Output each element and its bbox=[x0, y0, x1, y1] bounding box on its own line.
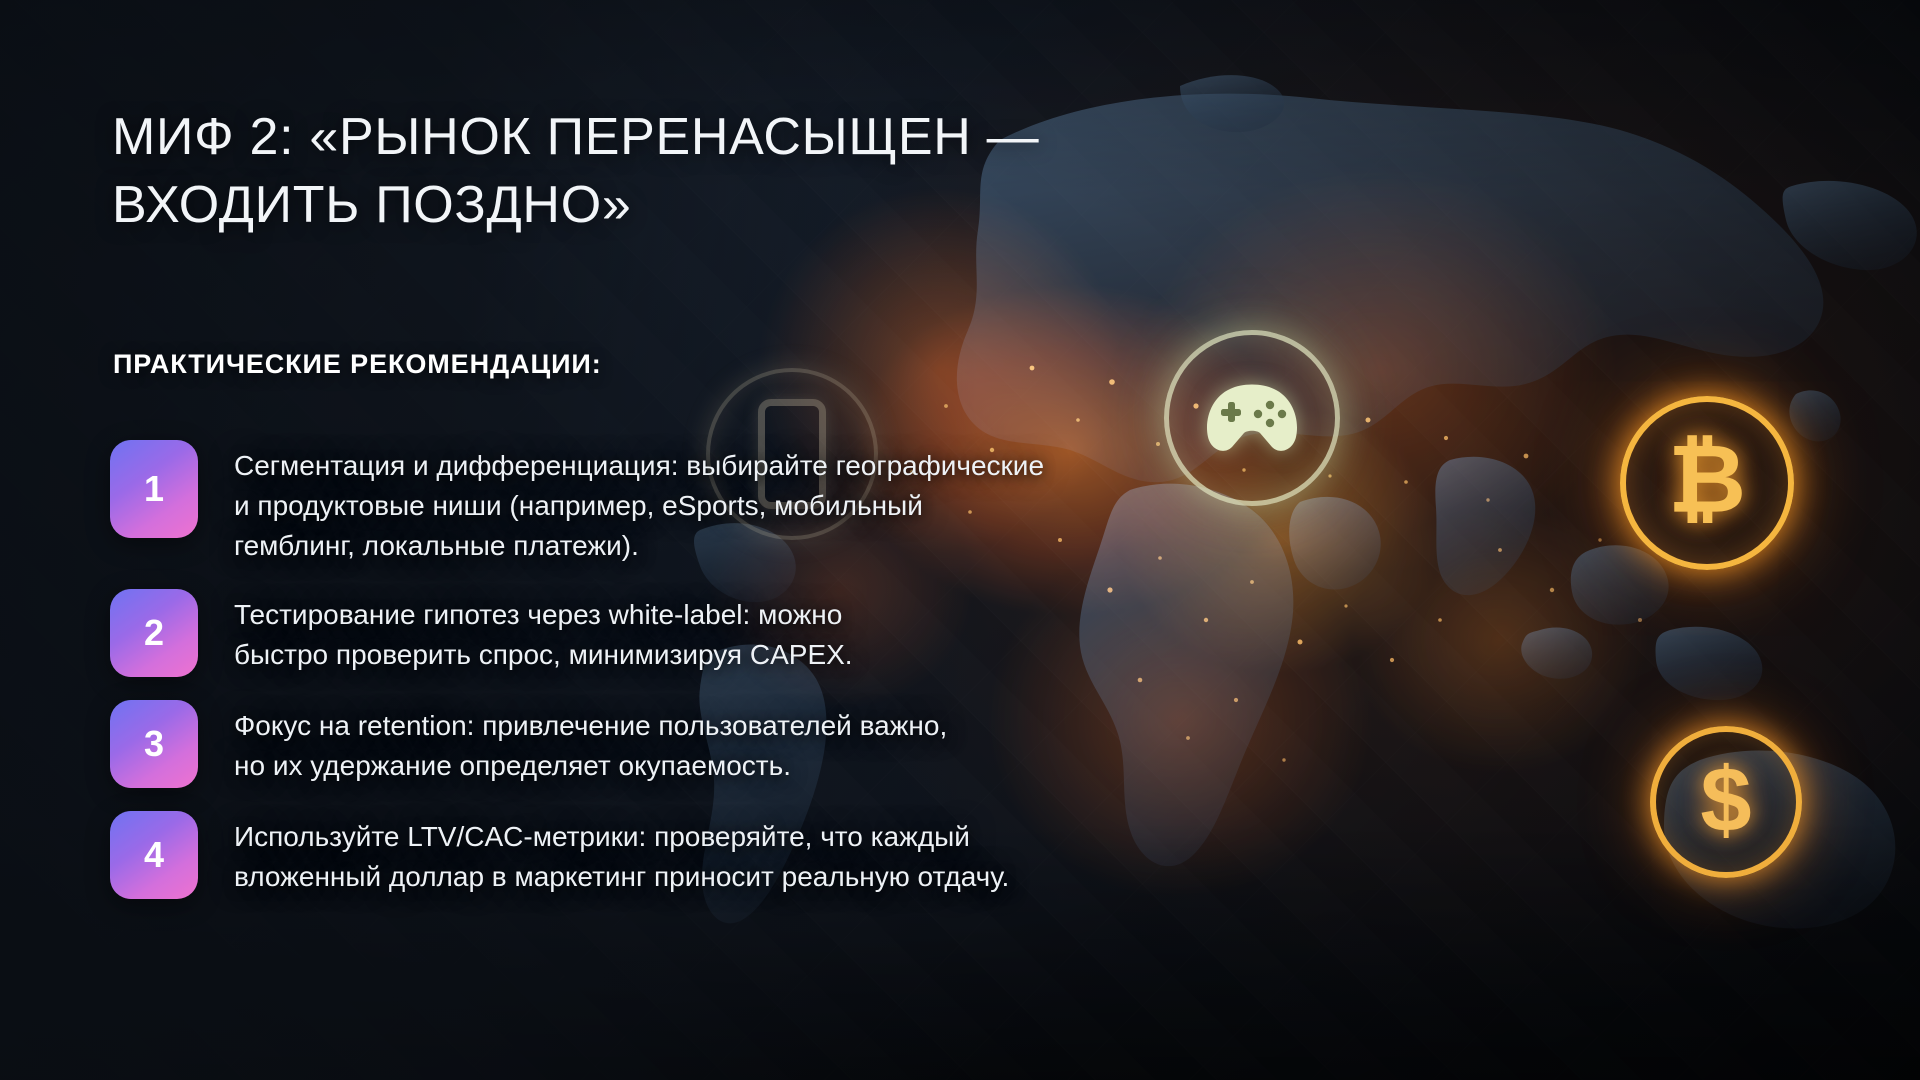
recommendations-heading: ПРАКТИЧЕСКИЕ РЕКОМЕНДАЦИИ: bbox=[113, 349, 602, 380]
recommendation-text: Фокус на retention: привлечение пользова… bbox=[234, 700, 947, 786]
recommendation-item: 2 Тестирование гипотез через white-label… bbox=[110, 589, 1440, 677]
recommendation-item: 4 Используйте LTV/CAC-метрики: проверяйт… bbox=[110, 811, 1440, 899]
recommendation-number-badge: 3 bbox=[110, 700, 198, 788]
slide-title: МИФ 2: «РЫНОК ПЕРЕНАСЫЩЕН — ВХОДИТЬ ПОЗД… bbox=[112, 104, 1039, 239]
recommendation-item: 1 Сегментация и дифференциация: выбирайт… bbox=[110, 440, 1440, 565]
recommendations-list: 1 Сегментация и дифференциация: выбирайт… bbox=[110, 440, 1440, 922]
slide-content: МИФ 2: «РЫНОК ПЕРЕНАСЫЩЕН — ВХОДИТЬ ПОЗД… bbox=[0, 0, 1920, 1080]
recommendation-item: 3 Фокус на retention: привлечение пользо… bbox=[110, 700, 1440, 788]
recommendation-text: Тестирование гипотез через white-label: … bbox=[234, 589, 853, 675]
recommendation-number-badge: 4 bbox=[110, 811, 198, 899]
recommendation-number-badge: 1 bbox=[110, 440, 198, 538]
slide-canvas: ₿ $ МИФ 2: «РЫНОК ПЕРЕНАСЫЩЕН — ВХОДИТЬ … bbox=[0, 0, 1920, 1080]
recommendation-number-badge: 2 bbox=[110, 589, 198, 677]
recommendation-text: Используйте LTV/CAC-метрики: проверяйте,… bbox=[234, 811, 1009, 897]
recommendation-text: Сегментация и дифференциация: выбирайте … bbox=[234, 440, 1044, 565]
